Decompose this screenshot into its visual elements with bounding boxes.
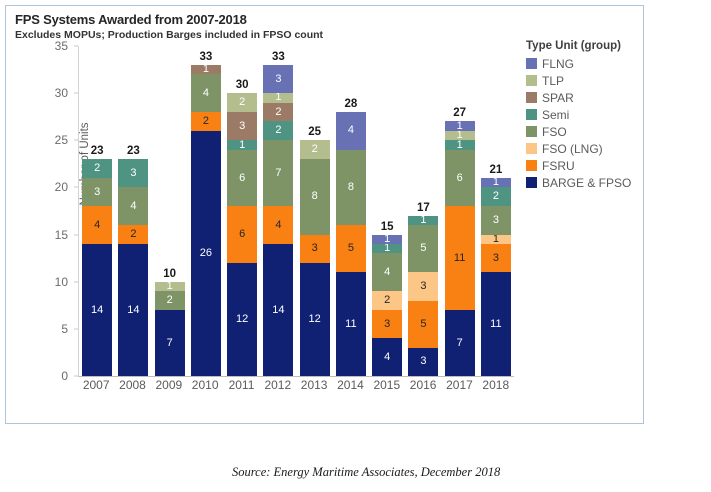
plot-area: 2323414233421410127331422630231661233312… bbox=[78, 46, 514, 377]
bar-slot: 271116117 bbox=[442, 46, 478, 376]
bar-segment-value: 2 bbox=[312, 144, 318, 155]
bar-segment-value: 4 bbox=[94, 220, 100, 231]
bar-segment-value: 2 bbox=[203, 116, 209, 127]
bar-segment-value: 1 bbox=[420, 216, 426, 225]
legend-swatch-icon bbox=[526, 160, 537, 171]
bar-slot: 2528312 bbox=[297, 46, 333, 376]
bar-segment[interactable]: 12 bbox=[300, 263, 330, 376]
legend-item[interactable]: BARGE & FPSO bbox=[526, 174, 641, 191]
stacked-bar[interactable]: 302316612 bbox=[227, 93, 257, 376]
bar-segment-value: 3 bbox=[239, 121, 245, 132]
bar-segment-value: 1 bbox=[203, 65, 209, 74]
bar-segment-value: 26 bbox=[200, 248, 212, 259]
bar-segment[interactable]: 2 bbox=[82, 159, 112, 178]
bar-slot: 302316612 bbox=[224, 46, 260, 376]
bar-segment-value: 7 bbox=[167, 338, 173, 349]
bar-total-label: 23 bbox=[127, 145, 140, 157]
bar-segment-value: 4 bbox=[275, 220, 281, 231]
bar-segment-value: 1 bbox=[493, 235, 499, 244]
bar-segment[interactable]: 3 bbox=[263, 65, 293, 93]
bar-segment[interactable]: 7 bbox=[263, 140, 293, 206]
bar-segment[interactable]: 1 bbox=[191, 65, 221, 74]
bar-segment-value: 4 bbox=[130, 201, 136, 212]
legend-swatch-icon bbox=[526, 58, 537, 69]
bar-segment-value: 2 bbox=[239, 97, 245, 108]
bar-segment[interactable]: 5 bbox=[336, 225, 366, 272]
bar-segment[interactable]: 5 bbox=[408, 301, 438, 348]
stacked-bar[interactable]: 271116117 bbox=[445, 121, 475, 376]
bar-total-label: 21 bbox=[489, 164, 502, 176]
bar-segment-value: 14 bbox=[91, 305, 103, 316]
bar-segment[interactable]: 8 bbox=[300, 159, 330, 234]
bar-segment-value: 1 bbox=[493, 178, 499, 187]
y-axis-tick-label: 20 bbox=[55, 180, 68, 194]
bar-segment-value: 1 bbox=[239, 140, 245, 149]
bar-segment[interactable]: 2 bbox=[118, 225, 148, 244]
bar-segment[interactable]: 4 bbox=[118, 187, 148, 225]
bar-slot: 2323414 bbox=[79, 46, 115, 376]
bar-segment-value: 2 bbox=[493, 191, 499, 202]
x-axis: 2007200820092010201120122013201420152016… bbox=[78, 378, 514, 392]
bar-segment-value: 1 bbox=[167, 282, 173, 291]
bar-segment[interactable]: 4 bbox=[336, 112, 366, 150]
bar-total-label: 33 bbox=[199, 51, 212, 63]
bar-segment-value: 11 bbox=[454, 253, 465, 264]
bar-segment-value: 11 bbox=[345, 319, 356, 330]
bar-segment[interactable]: 2 bbox=[372, 291, 402, 310]
bar-segment-value: 2 bbox=[275, 125, 281, 136]
bar-segment-value: 3 bbox=[384, 319, 390, 330]
bar-segment[interactable]: 8 bbox=[336, 150, 366, 225]
bar-segment[interactable]: 1 bbox=[481, 235, 511, 244]
x-axis-tick-label: 2014 bbox=[332, 378, 368, 392]
bar-segment-value: 3 bbox=[420, 356, 426, 367]
bar-segment[interactable]: 2 bbox=[263, 103, 293, 122]
stacked-bar[interactable]: 3331227414 bbox=[263, 65, 293, 376]
y-axis-tick-label: 30 bbox=[55, 86, 68, 100]
x-axis-tick-label: 2011 bbox=[223, 378, 259, 392]
bar-segment[interactable]: 2 bbox=[481, 187, 511, 206]
x-axis-tick-label: 2009 bbox=[151, 378, 187, 392]
bar-group: 2323414233421410127331422630231661233312… bbox=[79, 46, 514, 376]
bar-segment[interactable]: 7 bbox=[445, 310, 475, 376]
legend-item-label: SPAR bbox=[542, 91, 574, 105]
bar-segment[interactable]: 3 bbox=[481, 206, 511, 234]
bar-segment[interactable]: 14 bbox=[82, 244, 112, 376]
y-axis-tick-label: 35 bbox=[55, 39, 68, 53]
stacked-bar[interactable]: 1715353 bbox=[408, 216, 438, 376]
x-axis-tick-label: 2008 bbox=[114, 378, 150, 392]
bar-segment[interactable]: 4 bbox=[372, 338, 402, 376]
bar-segment-value: 1 bbox=[384, 244, 390, 253]
bar-segment[interactable]: 12 bbox=[227, 263, 257, 376]
bar-segment-value: 3 bbox=[94, 187, 100, 198]
y-axis-tick-label: 10 bbox=[55, 275, 68, 289]
bar-segment-value: 6 bbox=[239, 229, 245, 240]
bar-total-label: 28 bbox=[344, 98, 357, 110]
bar-slot: 2848511 bbox=[333, 46, 369, 376]
bar-segment[interactable]: 1 bbox=[263, 93, 293, 102]
bar-segment[interactable]: 3 bbox=[481, 244, 511, 272]
legend-item-label: TLP bbox=[542, 74, 564, 88]
stacked-bar[interactable]: 2528312 bbox=[300, 140, 330, 376]
bar-segment[interactable]: 1 bbox=[408, 216, 438, 225]
y-axis-tick-label: 25 bbox=[55, 133, 68, 147]
legend-item-label: FSO (LNG) bbox=[542, 142, 603, 156]
bar-segment-value: 5 bbox=[420, 319, 426, 330]
stacked-bar[interactable]: 2848511 bbox=[336, 112, 366, 376]
bar-segment-value: 12 bbox=[309, 314, 321, 325]
bar-slot: 10127 bbox=[152, 46, 188, 376]
bar-segment-value: 3 bbox=[493, 253, 499, 264]
y-axis-tick-label: 15 bbox=[55, 228, 68, 242]
bar-segment[interactable]: 11 bbox=[445, 206, 475, 310]
bar-segment-value: 14 bbox=[127, 305, 139, 316]
bar-segment-value: 7 bbox=[457, 338, 463, 349]
bar-segment-value: 2 bbox=[384, 295, 390, 306]
x-axis-tick-label: 2013 bbox=[296, 378, 332, 392]
stacked-bar[interactable]: 2334214 bbox=[118, 159, 148, 376]
legend-item[interactable]: Semi bbox=[526, 106, 641, 123]
bar-segment-value: 2 bbox=[275, 107, 281, 118]
bar-segment-value: 8 bbox=[348, 182, 354, 193]
bar-segment[interactable]: 3 bbox=[408, 348, 438, 376]
bar-segment[interactable]: 1 bbox=[445, 131, 475, 140]
bar-segment-value: 2 bbox=[130, 229, 136, 240]
bar-segment[interactable]: 14 bbox=[263, 244, 293, 376]
stacked-bar[interactable]: 3314226 bbox=[191, 65, 221, 376]
bar-segment[interactable]: 3 bbox=[408, 272, 438, 300]
bar-segment-value: 5 bbox=[348, 243, 354, 254]
stacked-bar[interactable]: 211231311 bbox=[481, 178, 511, 376]
bar-segment-value: 3 bbox=[275, 74, 281, 85]
legend-item-label: FLNG bbox=[542, 57, 574, 71]
x-axis-tick-label: 2015 bbox=[369, 378, 405, 392]
bar-segment[interactable]: 1 bbox=[445, 121, 475, 130]
legend-items: FLNGTLPSPARSemiFSOFSO (LNG)FSRUBARGE & F… bbox=[526, 55, 641, 191]
bar-segment[interactable]: 1 bbox=[155, 282, 185, 291]
bar-segment[interactable]: 4 bbox=[372, 253, 402, 291]
bar-segment[interactable]: 3 bbox=[300, 235, 330, 263]
bar-slot: 1715353 bbox=[405, 46, 441, 376]
bar-segment[interactable]: 4 bbox=[191, 74, 221, 112]
bar-total-label: 25 bbox=[308, 126, 321, 138]
bar-total-label: 17 bbox=[417, 202, 430, 214]
legend: Type Unit (group) FLNGTLPSPARSemiFSOFSO … bbox=[526, 40, 641, 191]
bar-total-label: 23 bbox=[91, 145, 104, 157]
bar-segment[interactable]: 4 bbox=[263, 206, 293, 244]
bar-total-label: 30 bbox=[236, 79, 249, 91]
legend-item[interactable]: FSO bbox=[526, 123, 641, 140]
bar-segment[interactable]: 3 bbox=[118, 159, 148, 187]
bar-segment-value: 1 bbox=[275, 93, 281, 102]
bar-total-label: 33 bbox=[272, 51, 285, 63]
bar-segment-value: 3 bbox=[312, 243, 318, 254]
legend-item-label: FSO bbox=[542, 125, 567, 139]
bar-slot: 2334214 bbox=[115, 46, 151, 376]
bar-segment-value: 8 bbox=[312, 191, 318, 202]
bar-segment[interactable]: 2 bbox=[155, 291, 185, 310]
bar-total-label: 15 bbox=[381, 221, 394, 233]
legend-swatch-icon bbox=[526, 177, 537, 188]
bar-segment-value: 1 bbox=[384, 235, 390, 244]
bar-segment-value: 14 bbox=[272, 305, 284, 316]
legend-item[interactable]: FSRU bbox=[526, 157, 641, 174]
bar-total-label: 27 bbox=[453, 107, 466, 119]
bar-segment[interactable]: 2 bbox=[227, 93, 257, 112]
legend-item[interactable]: FLNG bbox=[526, 55, 641, 72]
stacked-bar[interactable]: 10127 bbox=[155, 282, 185, 376]
bar-segment[interactable]: 1 bbox=[227, 140, 257, 149]
legend-item-label: FSRU bbox=[542, 159, 575, 173]
bar-segment-value: 4 bbox=[203, 88, 209, 99]
bar-segment[interactable]: 11 bbox=[481, 272, 511, 376]
legend-item[interactable]: TLP bbox=[526, 72, 641, 89]
bar-segment-value: 4 bbox=[348, 125, 354, 136]
bar-segment-value: 6 bbox=[457, 173, 463, 184]
y-axis: 05101520253035 bbox=[48, 46, 74, 376]
bar-segment[interactable]: 3 bbox=[82, 178, 112, 206]
bar-segment-value: 2 bbox=[94, 163, 100, 174]
stacked-bar[interactable]: 15114234 bbox=[372, 235, 402, 376]
bar-segment[interactable]: 1 bbox=[445, 140, 475, 149]
source-caption: Source: Energy Maritime Associates, Dece… bbox=[232, 465, 500, 480]
bar-segment[interactable]: 6 bbox=[445, 150, 475, 207]
x-axis-tick-label: 2018 bbox=[478, 378, 514, 392]
legend-title: Type Unit (group) bbox=[526, 40, 641, 52]
bar-segment[interactable]: 2 bbox=[191, 112, 221, 131]
bar-segment[interactable]: 26 bbox=[191, 131, 221, 376]
bar-segment[interactable]: 2 bbox=[300, 140, 330, 159]
x-axis-tick-label: 2007 bbox=[78, 378, 114, 392]
bar-segment[interactable]: 6 bbox=[227, 150, 257, 207]
bar-segment[interactable]: 1 bbox=[481, 178, 511, 187]
bar-segment-value: 3 bbox=[420, 281, 426, 292]
bar-segment[interactable]: 6 bbox=[227, 206, 257, 263]
x-axis-tick-label: 2016 bbox=[405, 378, 441, 392]
x-axis-tick-label: 2017 bbox=[441, 378, 477, 392]
bar-slot: 3331227414 bbox=[260, 46, 296, 376]
bar-segment[interactable]: 3 bbox=[227, 112, 257, 140]
chart-title: FPS Systems Awarded from 2007-2018 bbox=[15, 12, 247, 27]
bar-segment[interactable]: 2 bbox=[263, 121, 293, 140]
chart-container: FPS Systems Awarded from 2007-2018 Exclu… bbox=[5, 5, 644, 424]
bar-segment-value: 7 bbox=[275, 168, 281, 179]
bar-segment[interactable]: 11 bbox=[336, 272, 366, 376]
bar-segment[interactable]: 5 bbox=[408, 225, 438, 272]
legend-item-label: Semi bbox=[542, 108, 569, 122]
bar-slot: 15114234 bbox=[369, 46, 405, 376]
bar-segment-value: 3 bbox=[130, 168, 136, 179]
x-axis-tick-label: 2010 bbox=[187, 378, 223, 392]
bar-segment[interactable]: 1 bbox=[372, 235, 402, 244]
legend-swatch-icon bbox=[526, 109, 537, 120]
bar-segment[interactable]: 1 bbox=[372, 244, 402, 253]
bar-slot: 211231311 bbox=[478, 46, 514, 376]
bar-segment-value: 6 bbox=[239, 173, 245, 184]
legend-swatch-icon bbox=[526, 92, 537, 103]
bar-segment-value: 2 bbox=[167, 295, 173, 306]
legend-item[interactable]: FSO (LNG) bbox=[526, 140, 641, 157]
y-axis-tick-label: 0 bbox=[61, 369, 68, 383]
bar-segment-value: 3 bbox=[493, 215, 499, 226]
bar-total-label: 10 bbox=[163, 268, 176, 280]
legend-item[interactable]: SPAR bbox=[526, 89, 641, 106]
bar-segment-value: 1 bbox=[457, 140, 463, 149]
bar-segment-value: 12 bbox=[236, 314, 248, 325]
legend-swatch-icon bbox=[526, 75, 537, 86]
bar-segment-value: 4 bbox=[384, 352, 390, 363]
bar-segment-value: 1 bbox=[457, 121, 463, 130]
bar-segment[interactable]: 4 bbox=[82, 206, 112, 244]
bar-segment[interactable]: 14 bbox=[118, 244, 148, 376]
bar-segment-value: 5 bbox=[420, 243, 426, 254]
legend-item-label: BARGE & FPSO bbox=[542, 176, 631, 190]
bar-slot: 3314226 bbox=[188, 46, 224, 376]
legend-swatch-icon bbox=[526, 126, 537, 137]
bar-segment-value: 1 bbox=[457, 131, 463, 140]
bar-segment-value: 4 bbox=[384, 267, 390, 278]
legend-swatch-icon bbox=[526, 143, 537, 154]
plot-wrapper: Number of Units 05101520253035 232341423… bbox=[48, 46, 514, 401]
bar-segment[interactable]: 3 bbox=[372, 310, 402, 338]
bar-segment[interactable]: 7 bbox=[155, 310, 185, 376]
y-axis-tick-label: 5 bbox=[61, 322, 68, 336]
stacked-bar[interactable]: 2323414 bbox=[82, 159, 112, 376]
x-axis-tick-label: 2012 bbox=[260, 378, 296, 392]
bar-segment-value: 11 bbox=[490, 319, 501, 330]
